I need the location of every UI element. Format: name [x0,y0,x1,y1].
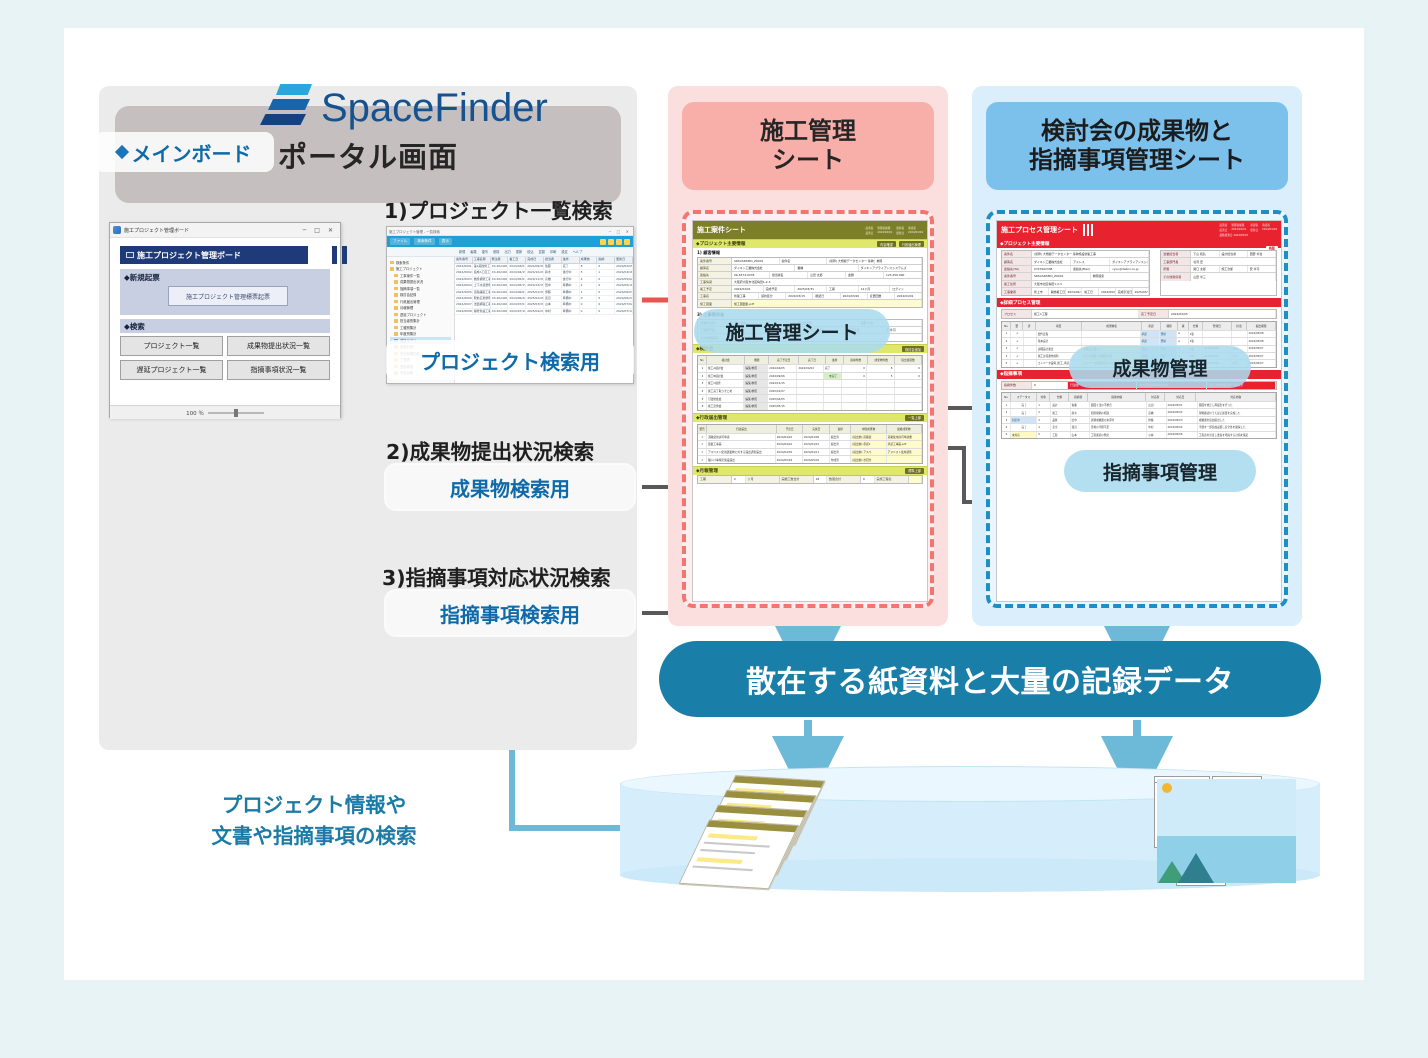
section-main-bar: ◆プロジェクト主要情報 内容確認行政届出管理 [693,239,927,248]
table-row[interactable]: 1完了1設計佐藤図面寸法の不整合山田2024/05/01図面を修正し再提出を行っ… [1002,401,1276,408]
grid-column-header[interactable]: No [1002,322,1011,330]
form-row: 営業担当者下山 和弘設計担当者西野 幸治 [1161,251,1276,258]
table-cell: 施工B検討会 [707,373,744,380]
table-cell: (提出前) アスベ [851,449,886,456]
field-value[interactable]: (仮称) 大規模データセンター 基幹施設新築工事 [827,258,875,264]
field-value[interactable]: 契約区分 [759,293,786,299]
field-value[interactable]: ダイキンアプライアンスシステムズ [1110,258,1149,264]
tree-node-label: 工種別集計 [400,325,416,330]
delayed-project-button[interactable]: 遅延プロジェクト一覧 [120,360,223,380]
section-process-label: ◆詳細プロセス管理 [1000,300,1040,306]
kentokai-add-button[interactable]: 検討会追加 [902,346,924,352]
table-row[interactable]: 5未対応5工程山本工程遅延の懸念小林2024/05/06工程表を見直し要員を増員… [1002,431,1276,438]
field-value[interactable] [909,476,923,483]
grid-column-header[interactable]: 完了予定日 [769,356,799,364]
field-value[interactable]: ダイキン工業株式会社 [732,265,795,271]
field-label: 案件番号 [698,258,732,264]
field-value[interactable]: 2024/04/01 [732,286,764,292]
table-cell: 山本 [1071,432,1090,438]
table-row[interactable]: ✔建築工事届2024/04/102024/04/15提出済(提出前) 承認1承認… [698,440,922,448]
grid-column-header[interactable]: 完了日 [799,356,826,364]
grid-column-header[interactable]: 済 [1023,322,1035,330]
grid-column-header[interactable]: 検討会 [707,356,745,364]
folder-icon [394,300,398,304]
field-label: 案件番号 [1002,273,1032,279]
table-cell: 2024/04/11 [803,449,830,456]
table-row[interactable]: 2✔基本設計承認登録A1版2024/05/08 [1002,337,1276,344]
ribbon-item-criteria[interactable]: 検索条件 [414,238,434,245]
field-value[interactable]: 2024/09/14 [1099,288,1116,295]
field-value[interactable]: 12ヶ月 [859,286,891,292]
form-row: 案件番号SDKASDKMO_Z0001参照検索 [1002,273,1149,280]
field-value[interactable]: アドレス [1071,258,1110,264]
folder-icon [394,332,398,336]
spacefinder-logo: SpaceFinder [260,84,548,132]
field-value[interactable]: 開始着工日 [1049,288,1066,295]
field-label: 着工住所 [1002,281,1032,287]
field-value[interactable]: 施工図面集.pdf [732,300,922,307]
sheet-meta: 起票者管理者権限更新者承認者起票日2024/04/01更新日2024/04/24 [866,226,923,235]
grid-column-header[interactable]: 項目 [1036,322,1083,330]
grid-column-header[interactable]: 着工日 [508,257,526,263]
table-row[interactable]: 4完了4安全渡辺足場の手摺不足中村2024/05/04手摺を一部追加設置し安全性… [1002,423,1276,430]
field-value[interactable]: 案件名 [780,258,828,264]
field-value[interactable]: 2024/04/30 [1066,288,1083,295]
grid-column-header[interactable]: ステータス [1011,393,1037,401]
mainboard-window-mockup: 施工プロジェクト管理ボード ─ □ ✕ 施工プロジェクト管理ボード ◆新規起票 … [109,222,341,418]
field-value[interactable]: 施工次郎 [1220,266,1248,272]
table-cell: 作成済 [830,456,851,463]
table-cell: 2024/05/01 [508,277,526,282]
window-controls[interactable]: ─ □ ✕ [303,227,337,234]
grid-column-header[interactable]: 分類 [1050,393,1069,401]
table-cell: 1版 [1189,338,1203,344]
grid-column-header[interactable]: 成果物 [580,257,598,263]
field-value[interactable]: 2024/04/01 [895,293,922,299]
section-main-bar: ◆プロジェクト主要情報 再版 [997,239,1281,248]
table-cell: 0 [580,309,598,314]
table-row[interactable]: 5引渡総会会編集/参照2025/04/05 [698,394,922,402]
table-cell: 承認工事届.pdf [887,441,922,448]
table-cell [1024,360,1037,366]
table-cell: 法面補強工事 [473,302,491,307]
grid-column-header[interactable]: 指摘者 [1069,393,1088,401]
section-geppo-bar: ◆月報管理 標準上部 [693,466,927,475]
toolbar-item-delete[interactable]: 削除 [493,249,499,254]
field-label: 営業担当者 [1161,251,1191,257]
toolbar-item-print[interactable]: 印刷 [550,249,556,254]
toolbar-item-new[interactable]: 新規 [459,249,465,254]
table-cell: 2024/0002 [455,270,473,275]
table-cell: 完了 [1011,424,1037,430]
sheet-action-button[interactable]: 内容確認 [877,241,896,247]
field-value[interactable]: 業種 [795,265,858,271]
field-value[interactable]: 安 幸司 [1248,266,1276,272]
table-cell: 2024/06/03 [615,290,633,295]
field-value[interactable]: 2024/04/05 [1169,310,1276,317]
table-row[interactable]: 4施工完了取りまとめ編集/参照2025/01/07 [698,387,922,395]
table-cell: 4 [580,277,598,282]
table-cell: 3 [1037,417,1051,423]
grid-column-header[interactable]: 中間成果物 [851,425,886,433]
table-cell: 2024/05/15 [508,283,526,288]
grid-column-header[interactable]: 担当者 [544,257,562,263]
window-titlebar: 施工プロジェクト管理ボード ─ □ ✕ [110,223,340,238]
toolbar-item-filter[interactable]: 絞込 [527,249,533,254]
field-value[interactable]: 確認日 [813,293,840,299]
sheet-title: 施工案件シート [697,225,746,235]
form-row: その他関係者山田 幸三 [1161,273,1276,280]
grid-column-header[interactable]: 対応日 [1165,393,1196,401]
field-value[interactable]: 06-6374-0235 [732,272,770,278]
table-cell: (提出前) 承認1 [851,441,886,448]
search-caption-line-2: 文書や指摘事項の検索 [184,821,444,852]
table-cell: 2024/05/06 [1167,432,1198,438]
field-value[interactable]: 下山 和弘 [1191,251,1219,257]
field-value[interactable]: 完成引渡日 [1116,288,1133,295]
finding-status-button[interactable]: 指摘事項状況一覧 [227,360,330,380]
field-value[interactable]: 山田 太郎 [808,272,846,278]
grid-column-header[interactable]: 対応内容 [1196,393,1276,401]
table-cell [867,380,895,387]
table-cell: 高橋 [544,277,562,282]
field-value[interactable]: 123,456,000 [884,272,922,278]
table-cell: 2024/0001 [455,264,473,269]
grid-header-row: Noステータス対象分類指摘者指摘内容対応者対応日対応内容 [1002,393,1276,401]
deliverable-status-button[interactable]: 成果物提出状況一覧 [227,336,330,356]
table-row[interactable]: 3対応中3品質田中試験成績書の未添付伊藤2024/05/03成績書を追加提出した [1002,416,1276,423]
field-value[interactable]: ダイキンアプライアンスシステムズ [859,265,922,271]
table-cell: 編集/参照 [744,395,768,402]
table-row[interactable]: 2完了2施工鈴木配筋間隔の相違高橋2024/05/02現場確認のうえ是正処置を実… [1002,408,1276,415]
toolbar-item-help[interactable]: ヘルプ [573,249,583,254]
table-cell: 2024/09/06 [768,373,797,380]
mainboard-new-section: ◆新規起票 施工プロジェクト管理標票起票 [120,269,330,315]
construction-sheet-callout-badge: 施工管理シート [694,309,890,353]
grid-header-row: 要否行政届出予定日実施日進捗中間成果物最終成果物 [698,425,922,433]
process-filter-table[interactable]: プロセス施工A工程完了予定日2024/04/05 [1001,309,1277,318]
field-value[interactable]: 大阪府大阪市北区梅田1-2-3 [732,279,922,285]
field-value[interactable]: 0 [861,476,875,483]
field-value[interactable]: 2025/03/31 [795,286,827,292]
table-cell: ✔ [698,456,707,463]
step-3-label: 3)指摘事項対応状況検索 [382,561,611,591]
deliverable-management-callout-badge: 成果物管理 [1069,346,1251,388]
table-cell: (提出前) 道路使 [851,434,886,441]
field-value[interactable]: 0707602338 [1032,266,1071,272]
geppo-top-button[interactable]: 標準上部 [905,468,924,474]
table-cell: XX-20240005-A005 [491,290,509,295]
grid-column-header[interactable]: 要 [1011,322,1023,330]
toolbar-item-refresh[interactable]: 更新 [516,249,522,254]
table-cell: 2025/02/28 [526,296,544,301]
spacefinder-wordmark: SpaceFinder [321,86,548,131]
maximize-icon[interactable]: □ [314,227,320,234]
grid-column-header[interactable]: 進捗 [562,257,580,263]
window-controls[interactable]: ─ □ ✕ [609,229,631,234]
grid-column-header[interactable]: No [1002,393,1011,401]
title-bar-block-b [342,246,347,264]
table-row[interactable]: 6施工定例会編集/参照2025/05/15 [698,402,922,410]
table-cell: 2024/05/03 [1167,417,1198,423]
kentokai-grid[interactable]: No検討会機能完了予定日完了日進捗指摘件数成果物件数提出遅延数1施工A検討会編集… [697,355,923,411]
ribbon-bar[interactable]: ファイル 検索条件 表示 [387,236,633,247]
process-sheet-header-line-1: 検討会の成果物と [1041,117,1233,146]
table-row[interactable]: ✔道路使用許可申請2024/04/102024/04/05提出済(提出前) 道路… [698,433,922,441]
window-titlebar: 施工プロジェクト管理 - 一覧検索 ─ □ ✕ [387,227,633,236]
table-cell: 2024/0006 [455,296,473,301]
finding-grid[interactable]: Noステータス対象分類指摘者指摘内容対応者対応日対応内容1完了1設計佐藤図面寸法… [1001,392,1277,439]
grid-column-header[interactable]: 進捗 [830,425,851,433]
ribbon-item-view[interactable]: 表示 [439,238,452,245]
zoom-level-label: 100 ％ [186,409,204,417]
grid-column-header[interactable]: 案件番号 [455,257,473,263]
field-value[interactable]: 関口 太郎 [1191,266,1219,272]
grid-column-header[interactable]: 対象 [1037,393,1051,401]
table-cell: ✔ [1011,360,1024,366]
finding-count-value[interactable]: 0 [1032,382,1068,389]
grid-column-header[interactable]: 進捗 [826,356,844,364]
table-cell: 2024/05/16 [615,283,633,288]
window-title: 施工プロジェクト管理ボード [124,227,189,234]
table-row[interactable]: 1✔要件定義承認登録A1版2024/05/08 [1002,330,1276,337]
field-value[interactable]: 新築工事 [732,293,759,299]
table-cell: 対応中 [1011,417,1037,423]
grid-column-header[interactable]: 行政届出 [707,425,777,433]
minimize-icon[interactable]: ─ [303,227,307,234]
field-value[interactable]: ログイン [890,286,922,292]
folder-icon [394,280,398,284]
field-value[interactable]: 完成予定 [764,286,796,292]
field-label: 施工図面 [698,300,732,307]
grid-column-header[interactable]: 実施日 [803,425,830,433]
grid-column-header[interactable]: 機能 [745,356,769,364]
field-value[interactable]: 参照検索 [1091,273,1150,279]
field-value[interactable]: 2025/03/10 [1133,288,1150,295]
mail-icon [126,252,134,258]
field-value[interactable]: ダイキン工業株式会社 [1032,258,1071,264]
table-cell: 田中 [1071,417,1090,423]
table-cell: 2024/07/01 [508,302,526,307]
table-cell: 2024/05/02 [615,277,633,282]
process-sheet-header-line-2: 指摘事項管理シート [1029,146,1245,175]
close-icon[interactable]: ✕ [328,227,333,234]
toolbar-item-copy[interactable]: 複写 [482,249,488,254]
table-row[interactable]: 3施工C検査編集/参照2024/12/15 [698,379,922,387]
table-cell [895,395,923,402]
form-row: 案件番号SDKASDKMO_Z0001案件名(仮称) 大規模データセンター 基幹… [698,258,922,265]
table-cell: 登録 [1160,331,1178,337]
field-value[interactable]: 大阪市北区梅田1-2-3 [1032,281,1149,287]
toolbar-item-export[interactable]: 出力 [505,249,511,254]
sheet-action-button[interactable]: 行政届出管理 [899,241,924,247]
grid-column-header[interactable]: 指摘 [597,257,615,263]
grid-column-header[interactable]: 成果物件数 [868,356,895,364]
grid-column-header[interactable]: 更新日 [615,257,633,263]
table-row[interactable]: 2施工B検討会編集/参照2024/09/06未完了050 [698,372,922,380]
kentokai-actions[interactable]: 検討会追加 [902,346,924,352]
field-value[interactable]: 金額 [846,272,884,278]
table-row[interactable]: 1施工A検討会編集/参照2024/04/052024/04/04完了080 [698,364,922,372]
gyosei-grid[interactable]: 要否行政届出予定日実施日進捗中間成果物最終成果物✔道路使用許可申請2024/04… [697,424,923,464]
tree-node-label: 成果物提出状況 [400,279,423,284]
grid-column-header[interactable]: 要否 [698,425,707,433]
table-cell: 鈴木 [544,270,562,275]
table-cell: 施工完了取りまとめ [707,388,744,395]
zoom-slider[interactable] [208,412,264,414]
table-cell: 未完了 [824,373,842,380]
field-value[interactable]: SDKASDKMO_Z0001 [1032,273,1091,279]
grid-column-header[interactable]: 成果物名 [1082,322,1142,330]
grid-column-header[interactable]: 担当 [1232,322,1248,330]
grid-column-header[interactable]: 発注者 [491,257,509,263]
table-cell: 2024/05/01 [803,456,830,463]
grid-column-header[interactable]: 登録日 [1203,322,1232,330]
field-label: 工期 [698,476,732,483]
field-value[interactable]: 18 [814,476,828,483]
ribbon-item-file[interactable]: ファイル [390,238,410,245]
field-value[interactable]: 2 [732,476,746,483]
field-value[interactable]: 北河 宏 [1191,258,1276,264]
grid-column-header[interactable]: 承認 [1142,322,1161,330]
app-icon [113,226,121,234]
grid-column-header[interactable]: 完成日 [526,257,544,263]
field-value[interactable]: 連絡先(Mail) [1071,266,1110,272]
grid-column-header[interactable]: 予定日 [777,425,804,433]
grid-column-header[interactable]: 工事名称 [473,257,491,263]
table-row[interactable]: ✔アスベスト使用建築物に対する届出調査届出2024/04/302024/04/1… [698,448,922,456]
table-cell: 2024/04/05 [768,365,797,372]
gyosei-actions[interactable]: 一覧上部 [905,415,924,421]
grid-column-header[interactable]: 提出期限 [1247,322,1276,330]
ribbon-icon-group[interactable] [600,239,630,245]
grid-column-header[interactable]: 種別 [1161,322,1178,330]
finding-search-pill[interactable]: 指摘事項検索用 [386,591,634,635]
table-cell: 道路使用許可申請書 [887,434,922,441]
table-cell [1082,338,1140,344]
grid-column-header[interactable]: 指摘件数 [844,356,868,364]
field-value[interactable]: SDKASDKMO_Z0001 [732,258,780,264]
field-value[interactable]: cyou@daikin.co.jp [1110,266,1149,272]
gyosei-top-button[interactable]: 一覧上部 [905,415,924,421]
table-cell: 手摺を一部追加設置し安全性を確保した [1198,424,1276,430]
grid-column-header[interactable]: 分類 [1189,322,1203,330]
form-row: 案件名(仮称) 大規模データセンター 基幹施設新築工事 [1002,251,1149,258]
field-value[interactable]: 山田 幸三 [1191,273,1276,280]
table-cell: 6 [698,403,707,410]
table-cell: 引渡総会会 [707,395,744,402]
step-1-label: 1)プロジェクト一覧検索 [384,194,613,224]
table-cell [1024,346,1037,352]
sheet-title: 施工プロセス管理シート [1001,225,1078,235]
grid-column-header[interactable]: 最終成果物 [887,425,922,433]
table-cell: 4 [1002,424,1011,430]
table-cell: ✔ [1011,338,1024,344]
field-value[interactable]: 竣工日 [1082,288,1099,295]
geppo-actions[interactable]: 標準上部 [905,468,924,474]
new-entry-button[interactable]: 施工プロジェクト管理標票起票 [168,286,288,306]
table-cell: 造成A工区工事 [473,270,491,275]
field-label: 工事業者 [1002,288,1032,295]
meta-value: 起票日 [866,231,874,235]
table-cell: 2025/04/20 [526,309,544,314]
toolbar-item-settings[interactable]: 設定 [561,249,567,254]
table-cell: 1 [1037,402,1051,408]
finding-management-callout-label: 指摘事項管理 [1103,458,1217,485]
table-cell: (提出前) 次回分 [851,456,886,463]
table-cell: 4 [1002,353,1011,359]
field-value[interactable]: 担当者名 [770,272,808,278]
table-cell: 2024/05/02 [1167,409,1198,415]
table-cell: 2024/04/10 [776,434,803,441]
field-value[interactable]: 2024/03/20 [841,293,868,299]
field-value[interactable]: 参照 [875,258,923,264]
table-cell [1203,331,1231,337]
form-row: 工事業者新上市開始着工日2024/04/30竣工日2024/09/14完成引渡日… [1002,288,1149,295]
table-cell: 3 [1002,346,1011,352]
table-cell: 5 [1037,432,1051,438]
toolbar-item-edit[interactable]: 編集 [470,249,476,254]
grid-column-header[interactable]: No [698,356,707,364]
spacefinder-mark-icon [260,84,312,132]
table-cell: 小林 [1147,432,1166,438]
grid-column-header[interactable]: 指摘内容 [1088,393,1146,401]
section-main-actions[interactable]: 内容確認行政届出管理 [877,241,924,247]
table-cell [895,403,923,410]
table-cell: 鈴木 [1071,409,1090,415]
table-row[interactable]: 2024/0008擁壁新設工事XX-20240008-A0082024/07/1… [455,309,633,315]
toolbar[interactable]: 新規 編集 複写 削除 出力 更新 絞込 並替 印刷 設定 ヘルプ [387,247,633,257]
section-geppo-label: ◆月報管理 [696,468,718,474]
grid-column-header[interactable]: 対応者 [1146,393,1165,401]
table-cell: XX-20240003-A003 [491,277,509,282]
table-cell: 0 [895,373,923,380]
table-cell: 承認 [1141,331,1160,337]
field-value[interactable]: 新上市 [1032,288,1049,295]
deliverable-search-pill[interactable]: 成果物検索用 [386,465,634,509]
tree-node-label: 検索条件 [396,260,409,265]
table-cell: 2024/07/11 [615,309,633,314]
toolbar-item-sort[interactable]: 並替 [539,249,545,254]
table-cell: 2024/06/20 [508,296,526,301]
table-cell [1024,338,1037,344]
table-cell [842,388,867,395]
grid-column-header[interactable]: 版 [1178,322,1189,330]
scattered-data-banner: 散在する紙資料と大量の記録データ [659,641,1321,717]
field-value[interactable]: (仮称) 大規模データセンター 基幹施設新築工事 [1032,251,1149,257]
field-value[interactable]: 2024/03/15 [786,293,813,299]
table-cell: 4 [1037,424,1051,430]
tree-node-label: 遅延プロジェクト [400,312,426,317]
sun-icon [1162,783,1172,793]
grid-header-row: No要済項目成果物名承認種別版分類登録日担当提出期限 [1002,322,1276,330]
field-value[interactable]: 変更回数 [868,293,895,299]
meta-value: 起票者 [1220,223,1228,227]
table-row[interactable]: ✔騒人け事特定施設届出2024/05/162024/05/01作成済(提出前) … [698,455,922,463]
table-cell: ✔ [1011,331,1024,337]
table-cell: 2024/05/04 [1167,424,1198,430]
table-cell: 完了 [1011,402,1037,408]
section-gyosei-label: ◆行政届出管理 [696,415,727,421]
field-value[interactable]: 施工A工程 [1032,310,1139,317]
sheet-title-bar: 施工案件シート 起票者管理者権限更新者承認者起票日2024/04/01更新日20… [693,221,927,239]
field-value[interactable]: 工期 [827,286,859,292]
field-value[interactable]: 西野 幸治 [1248,251,1276,257]
project-list-button[interactable]: プロジェクト一覧 [120,336,223,356]
form-row: 連絡先(Tel)0707602338連絡先(Mail)cyou@daikin.c… [1002,266,1149,273]
grid-column-header[interactable]: 提出遅延数 [895,356,922,364]
field-value[interactable]: 設計担当者 [1220,251,1248,257]
